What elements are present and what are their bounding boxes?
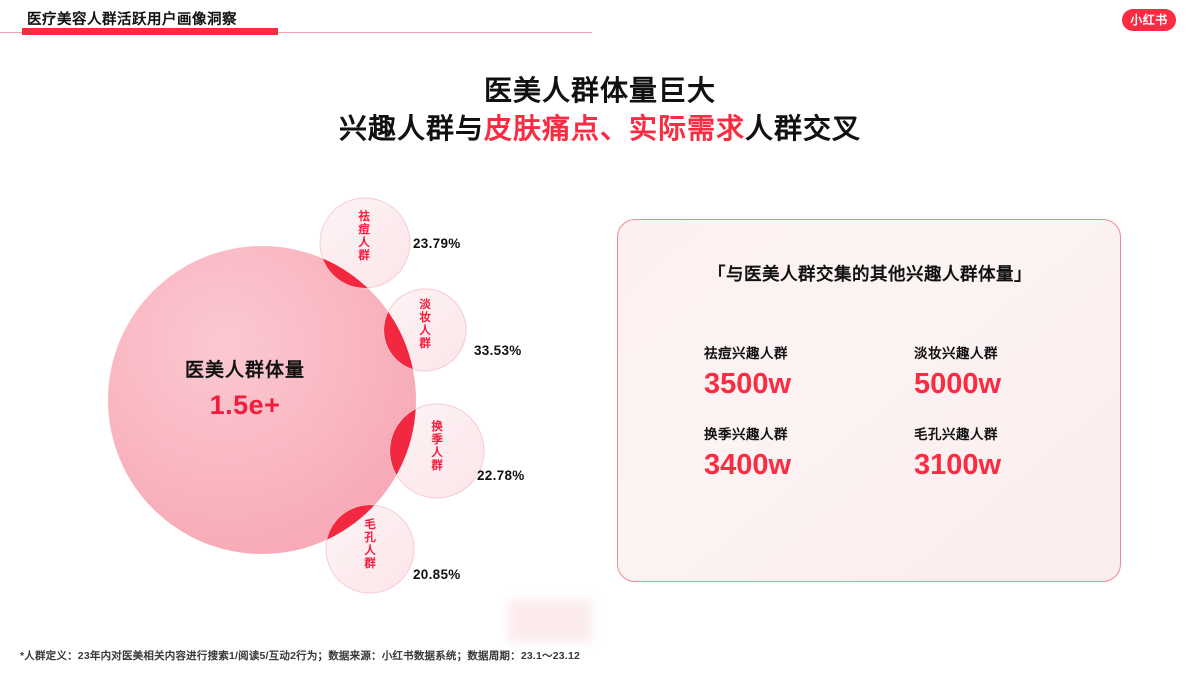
xiaohongshu-logo: 小红书 <box>1122 9 1176 31</box>
stat-value-lightmakeup: 5000w <box>914 368 1084 401</box>
footnote: *人群定义：23年内对医美相关内容进行搜索1/阅读5/互动2行为；数据来源：小红… <box>20 648 580 663</box>
stat-label-season: 换季兴趣人群 <box>704 427 874 443</box>
venn-label-season: 换季人群 <box>430 420 442 472</box>
stat-label-lightmakeup: 淡妆兴趣人群 <box>914 346 1084 362</box>
venn-pct-lightmakeup: 33.53% <box>474 343 522 358</box>
venn-main-label: 医美人群体量 1.5e+ <box>120 360 370 419</box>
venn-main-label-value: 1.5e+ <box>120 392 370 419</box>
page-header: 医疗美容人群活跃用户画像洞察 小红书 <box>0 0 1200 46</box>
stat-item-acne: 祛痘兴趣人群 3500w <box>704 346 874 402</box>
headline-line-2-suffix: 人群交叉 <box>745 113 861 144</box>
panel-stat-grid: 祛痘兴趣人群 3500w 淡妆兴趣人群 5000w 换季兴趣人群 3400w 毛… <box>704 346 1084 482</box>
stat-item-pores: 毛孔兴趣人群 3100w <box>914 427 1084 483</box>
stat-value-pores: 3100w <box>914 449 1084 482</box>
interest-overlap-panel: 「与医美人群交集的其他兴趣人群体量」 祛痘兴趣人群 3500w 淡妆兴趣人群 5… <box>617 219 1121 582</box>
venn-pct-season: 22.78% <box>477 468 525 483</box>
headline-line-2: 兴趣人群与皮肤痛点、实际需求人群交叉 <box>0 110 1200 148</box>
venn-pct-acne: 23.79% <box>413 236 461 251</box>
venn-label-pores: 毛孔人群 <box>363 518 375 570</box>
stat-value-season: 3400w <box>704 449 874 482</box>
venn-label-lightmakeup: 淡妆人群 <box>418 298 430 350</box>
decorative-smudge <box>508 600 592 642</box>
venn-label-acne: 祛痘人群 <box>357 210 369 262</box>
stat-value-acne: 3500w <box>704 368 874 401</box>
logo-label: 小红书 <box>1130 14 1168 26</box>
header-accent-bar <box>22 28 278 35</box>
headline-line-2-highlight: 皮肤痛点、实际需求 <box>484 113 745 144</box>
stat-item-season: 换季兴趣人群 3400w <box>704 427 874 483</box>
venn-main-label-name: 医美人群体量 <box>120 360 370 383</box>
panel-title: 「与医美人群交集的其他兴趣人群体量」 <box>618 261 1122 286</box>
stat-item-lightmakeup: 淡妆兴趣人群 5000w <box>914 346 1084 402</box>
venn-diagram: 医美人群体量 1.5e+ 祛痘人群 淡妆人群 换季人群 毛孔人群 23.79% … <box>80 180 580 610</box>
stat-label-acne: 祛痘兴趣人群 <box>704 346 874 362</box>
slide-headline: 医美人群体量巨大 兴趣人群与皮肤痛点、实际需求人群交叉 <box>0 72 1200 147</box>
stat-label-pores: 毛孔兴趣人群 <box>914 427 1084 443</box>
venn-pct-pores: 20.85% <box>413 567 461 582</box>
headline-line-2-prefix: 兴趣人群与 <box>339 113 484 144</box>
page-title: 医疗美容人群活跃用户画像洞察 <box>27 8 237 29</box>
headline-line-1: 医美人群体量巨大 <box>0 72 1200 110</box>
